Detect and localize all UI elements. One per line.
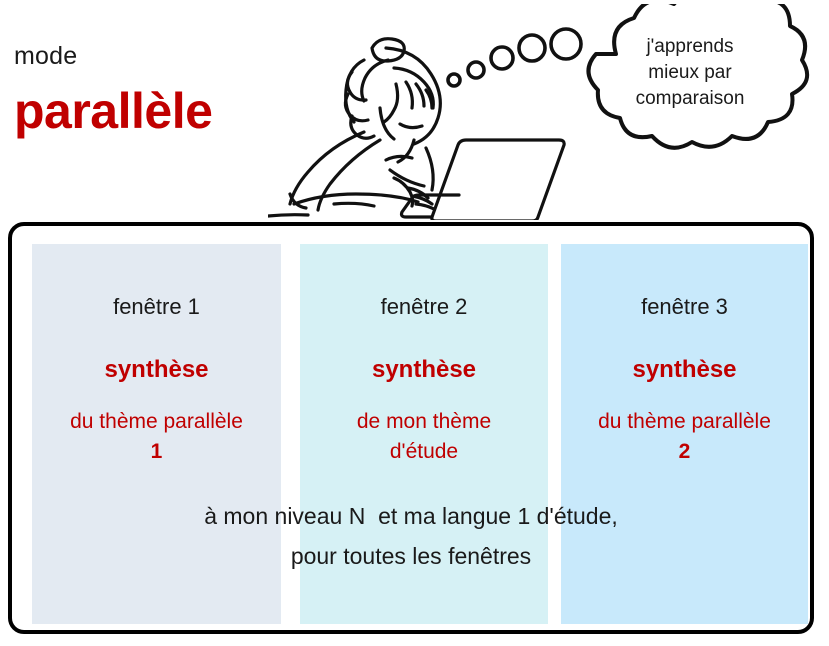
panel-detail-1: du thème parallèle 1: [32, 407, 281, 467]
thought-bubble-line-1: j'apprends: [556, 34, 824, 60]
windows-frame: fenêtre 1 synthèse du thème parallèle 1 …: [8, 222, 814, 634]
panel-detail-2: de mon thème d'étude: [300, 407, 548, 467]
thought-bubble-text: j'apprends mieux par comparaison: [556, 34, 824, 112]
panel-detail-text-2: de mon thème: [357, 410, 491, 433]
synthesis-label-3: synthèse: [561, 356, 808, 384]
synthesis-label-1: synthèse: [32, 356, 281, 384]
panel-detail-text-1: du thème parallèle: [70, 410, 243, 433]
window-panel-2[interactable]: fenêtre 2 synthèse de mon thème d'étude: [300, 244, 548, 624]
window-label-2: fenêtre 2: [300, 294, 548, 320]
window-panel-1[interactable]: fenêtre 1 synthèse du thème parallèle 1: [32, 244, 281, 624]
panel-detail-3: du thème parallèle 2: [561, 407, 808, 467]
thought-bubble-line-3: comparaison: [556, 86, 824, 112]
panel-detail-number-1: 1: [32, 437, 281, 467]
thought-bubble-line-2: mieux par: [556, 60, 824, 86]
window-panel-3[interactable]: fenêtre 3 synthèse du thème parallèle 2: [561, 244, 808, 624]
panel-detail-number-3: 2: [561, 437, 808, 467]
window-label-3: fenêtre 3: [561, 294, 808, 320]
synthesis-label-2: synthèse: [300, 356, 548, 384]
window-label-1: fenêtre 1: [32, 294, 281, 320]
panel-detail-number-2: d'étude: [300, 437, 548, 467]
panel-detail-text-3: du thème parallèle: [598, 410, 771, 433]
header-area: mode parallèle: [0, 0, 829, 220]
mode-label: mode: [14, 44, 77, 69]
page-title: parallèle: [14, 86, 212, 136]
